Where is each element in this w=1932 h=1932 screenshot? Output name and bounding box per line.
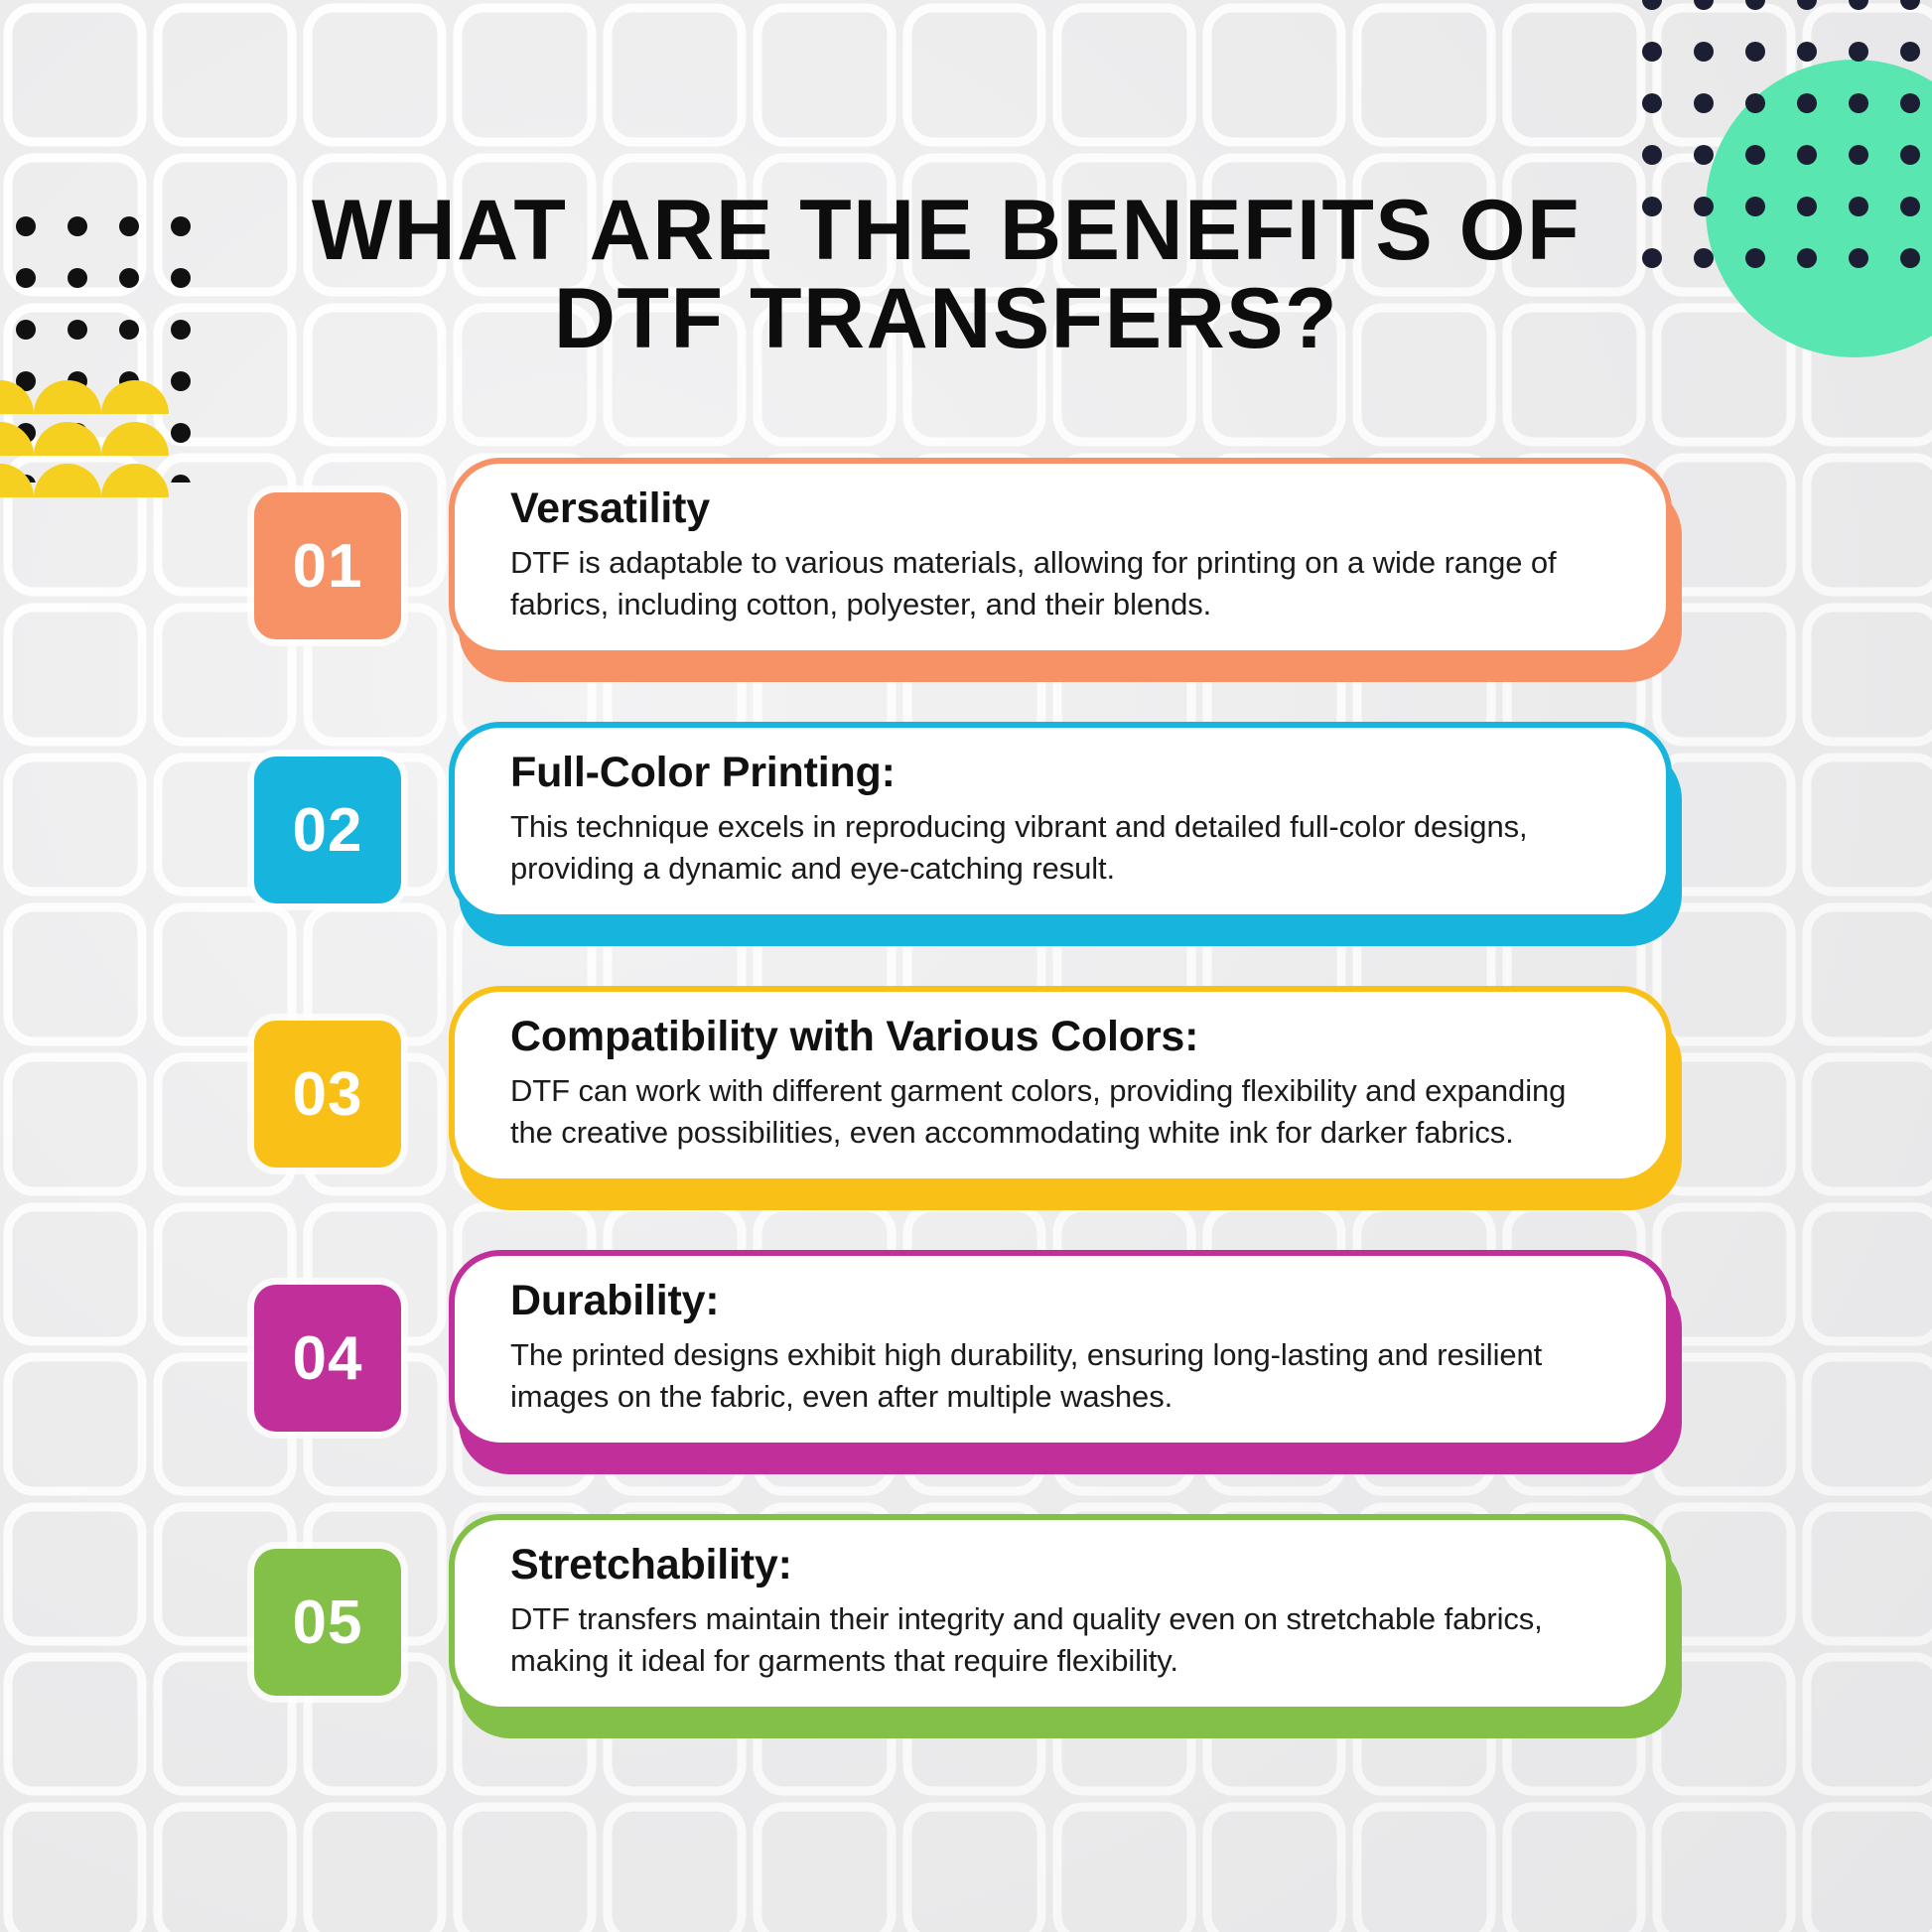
card-body: Versatility DTF is adaptable to various … [449,458,1672,656]
benefit-heading: Versatility [510,485,1612,532]
benefit-number-label: 03 [293,1059,363,1130]
benefit-number-badge: 04 [254,1285,401,1432]
dot-grid-top-right [1640,0,1932,286]
benefit-row: 01 Versatility DTF is adaptable to vario… [0,452,1932,680]
benefit-body: The printed designs exhibit high durabil… [510,1334,1612,1418]
benefit-heading: Compatibility with Various Colors: [510,1014,1612,1060]
benefit-number-label: 01 [293,531,363,602]
benefit-body: DTF can work with different garment colo… [510,1070,1612,1154]
card-body: Stretchability: DTF transfers maintain t… [449,1514,1672,1713]
benefit-row: 05 Stretchability: DTF transfers maintai… [0,1508,1932,1736]
benefit-number-badge: 03 [254,1021,401,1168]
infographic-canvas: WHAT ARE THE BENEFITS OF DTF TRANSFERS? … [0,0,1932,1932]
benefit-card[interactable]: Stretchability: DTF transfers maintain t… [449,1514,1672,1721]
page-title: WHAT ARE THE BENEFITS OF DTF TRANSFERS? [241,187,1651,362]
card-body: Full-Color Printing: This technique exce… [449,722,1672,920]
benefit-row: 03 Compatibility with Various Colors: DT… [0,980,1932,1208]
benefit-heading: Durability: [510,1278,1612,1324]
card-body: Compatibility with Various Colors: DTF c… [449,986,1672,1184]
benefit-body: DTF is adaptable to various materials, a… [510,542,1612,625]
benefit-card[interactable]: Full-Color Printing: This technique exce… [449,722,1672,928]
benefit-row: 04 Durability: The printed designs exhib… [0,1244,1932,1472]
benefit-number-label: 02 [293,795,363,866]
benefit-number-badge: 01 [254,492,401,639]
benefit-card[interactable]: Versatility DTF is adaptable to various … [449,458,1672,664]
benefit-number-label: 05 [293,1587,363,1658]
benefit-body: DTF transfers maintain their integrity a… [510,1598,1612,1682]
benefit-card[interactable]: Durability: The printed designs exhibit … [449,1250,1672,1456]
benefit-card[interactable]: Compatibility with Various Colors: DTF c… [449,986,1672,1192]
benefit-heading: Stretchability: [510,1542,1612,1588]
benefit-body: This technique excels in reproducing vib… [510,806,1612,890]
benefit-number-label: 04 [293,1323,363,1394]
benefit-heading: Full-Color Printing: [510,750,1612,796]
benefit-row: 02 Full-Color Printing: This technique e… [0,716,1932,944]
benefit-number-badge: 05 [254,1549,401,1696]
card-body: Durability: The printed designs exhibit … [449,1250,1672,1449]
benefit-number-badge: 02 [254,757,401,903]
